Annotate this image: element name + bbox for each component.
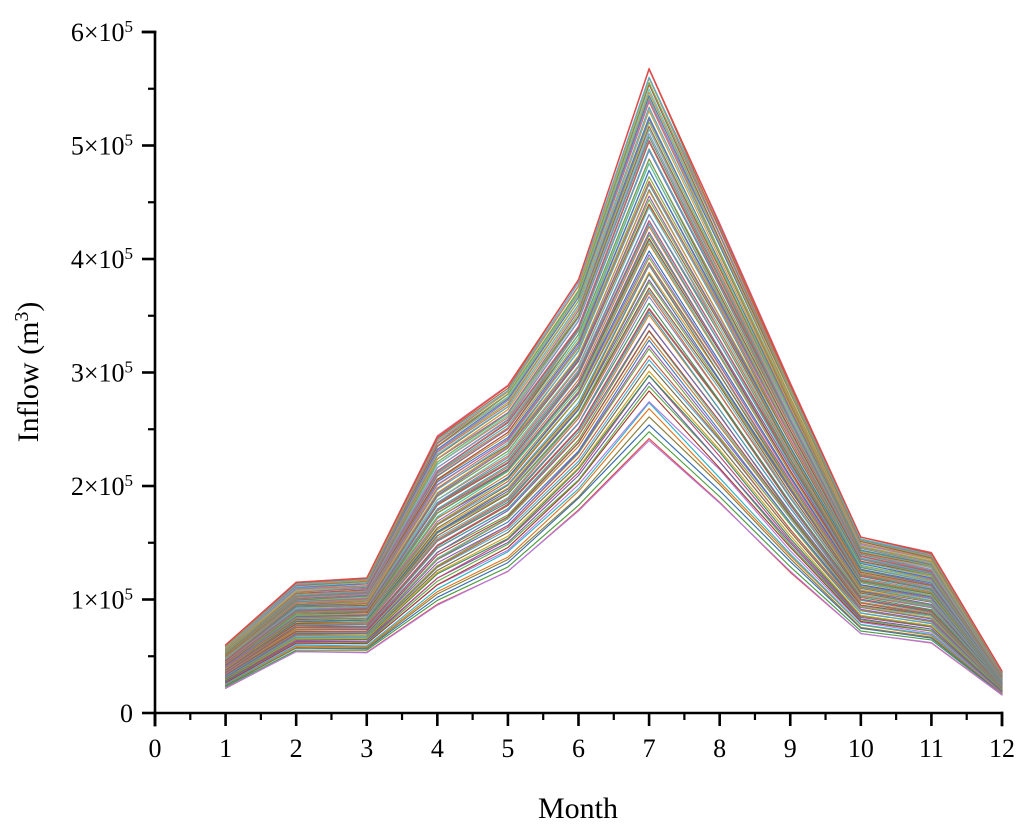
chart-figure: 0123456789101112 01×1052×1053×1054×1055×… bbox=[0, 0, 1033, 832]
x-tick-label: 6 bbox=[572, 734, 585, 763]
min-envelope-line bbox=[226, 441, 1002, 695]
y-tick-label: 0 bbox=[120, 699, 133, 728]
y-tick-label: 5×105 bbox=[71, 131, 133, 161]
y-axis-title: Inflow (m3) bbox=[11, 302, 45, 443]
y-axis-title-superscript: 3 bbox=[11, 312, 33, 322]
x-tick-label: 4 bbox=[431, 734, 444, 763]
x-tick-label: 7 bbox=[643, 734, 656, 763]
x-tick-label: 1 bbox=[219, 734, 232, 763]
x-tick-label: 12 bbox=[989, 734, 1015, 763]
x-axis-ticks bbox=[155, 713, 1002, 726]
x-axis-title: Month bbox=[538, 792, 618, 825]
x-tick-label: 5 bbox=[501, 734, 514, 763]
y-axis-title-closer: ) bbox=[12, 302, 45, 312]
x-tick-label: 9 bbox=[784, 734, 797, 763]
x-tick-label: 8 bbox=[713, 734, 726, 763]
y-axis-ticks bbox=[142, 32, 155, 713]
x-tick-label: 2 bbox=[290, 734, 303, 763]
x-axis-tick-labels: 0123456789101112 bbox=[149, 734, 1016, 763]
x-tick-label: 10 bbox=[848, 734, 874, 763]
series-line bbox=[226, 382, 1002, 691]
y-tick-label: 1×105 bbox=[71, 585, 133, 615]
inflow-spaghetti-chart: 0123456789101112 01×1052×1053×1054×1055×… bbox=[0, 0, 1033, 832]
x-tick-label: 11 bbox=[919, 734, 944, 763]
y-axis-title-base: Inflow (m bbox=[12, 322, 45, 443]
y-axis-title-text: Inflow (m3) bbox=[11, 302, 45, 443]
x-tick-label: 0 bbox=[149, 734, 162, 763]
y-tick-label: 6×105 bbox=[71, 17, 133, 47]
y-tick-label: 3×105 bbox=[71, 358, 133, 388]
y-tick-label: 2×105 bbox=[71, 471, 133, 501]
y-tick-label: 4×105 bbox=[71, 244, 133, 274]
series-lines-group bbox=[226, 68, 1002, 695]
x-tick-label: 3 bbox=[360, 734, 373, 763]
y-axis-tick-labels: 01×1052×1053×1054×1055×1056×105 bbox=[71, 17, 133, 728]
